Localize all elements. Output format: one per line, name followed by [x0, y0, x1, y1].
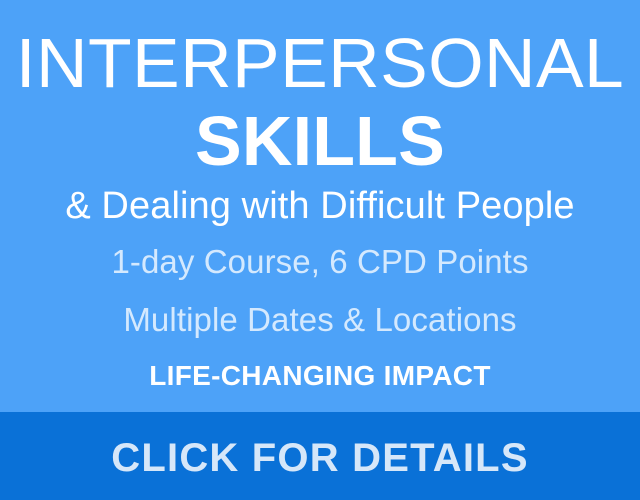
- course-duration-detail: 1-day Course, 6 CPD Points: [0, 245, 640, 278]
- click-for-details-button[interactable]: CLICK FOR DETAILS: [0, 412, 640, 500]
- cta-label: CLICK FOR DETAILS: [0, 438, 640, 478]
- headline-line-2: SKILLS: [0, 106, 640, 176]
- dates-locations-detail: Multiple Dates & Locations: [0, 303, 640, 336]
- impact-statement: LIFE-CHANGING IMPACT: [0, 362, 640, 390]
- banner-tagline: & Dealing with Difficult People: [0, 187, 640, 225]
- banner-content: INTERPERSONAL SKILLS & Dealing with Diff…: [0, 0, 640, 412]
- advertisement-banner[interactable]: INTERPERSONAL SKILLS & Dealing with Diff…: [0, 0, 640, 500]
- headline-line-1: INTERPERSONAL: [0, 28, 640, 98]
